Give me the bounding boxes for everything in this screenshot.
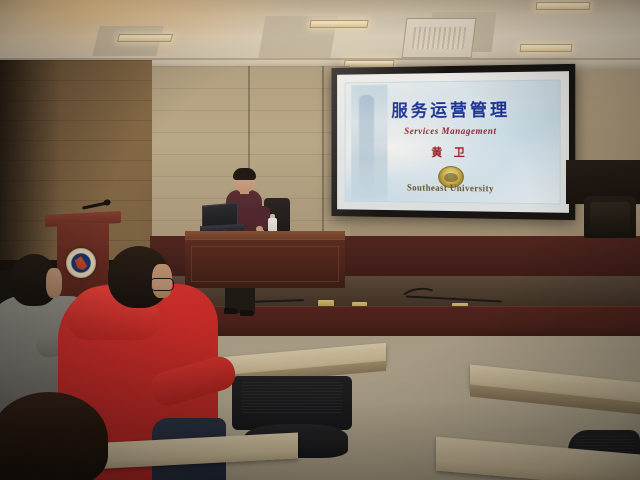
student-red-glasses (150, 278, 174, 291)
screen-mask: 服务运营管理 Services Management 黄 卫 Southeast… (337, 71, 569, 213)
presenter-shoe-right (240, 310, 254, 316)
slide-title-chinese: 服务运营管理 (346, 95, 560, 122)
projection-screen: 服务运营管理 Services Management 黄 卫 Southeast… (331, 64, 575, 220)
university-emblem-icon (66, 248, 96, 278)
ceiling-light-fixture-6 (520, 44, 573, 52)
presentation-slide: 服务运营管理 Services Management 黄 卫 Southeast… (345, 79, 561, 204)
leather-armchair (584, 196, 636, 238)
ceiling-light-fixture-7 (536, 2, 591, 10)
student-grey-face (46, 268, 62, 298)
slide-author-name: 黄 卫 (346, 144, 560, 160)
lecture-hall-photo: 服务运营管理 Services Management 黄 卫 Southeast… (0, 0, 640, 480)
wall-seam-2 (322, 66, 324, 246)
presenter-shoe-left (224, 308, 238, 314)
presenter-glasses (236, 178, 253, 183)
head-table-front (185, 239, 345, 288)
slide-subtitle-english: Services Management (346, 126, 560, 137)
left-corner-shadow (0, 60, 60, 270)
ceiling-light-fixture-4 (309, 20, 368, 28)
ceiling-air-vent (402, 18, 477, 58)
student-chair-1 (232, 376, 352, 430)
ceiling-light-fixture-1 (117, 34, 173, 42)
